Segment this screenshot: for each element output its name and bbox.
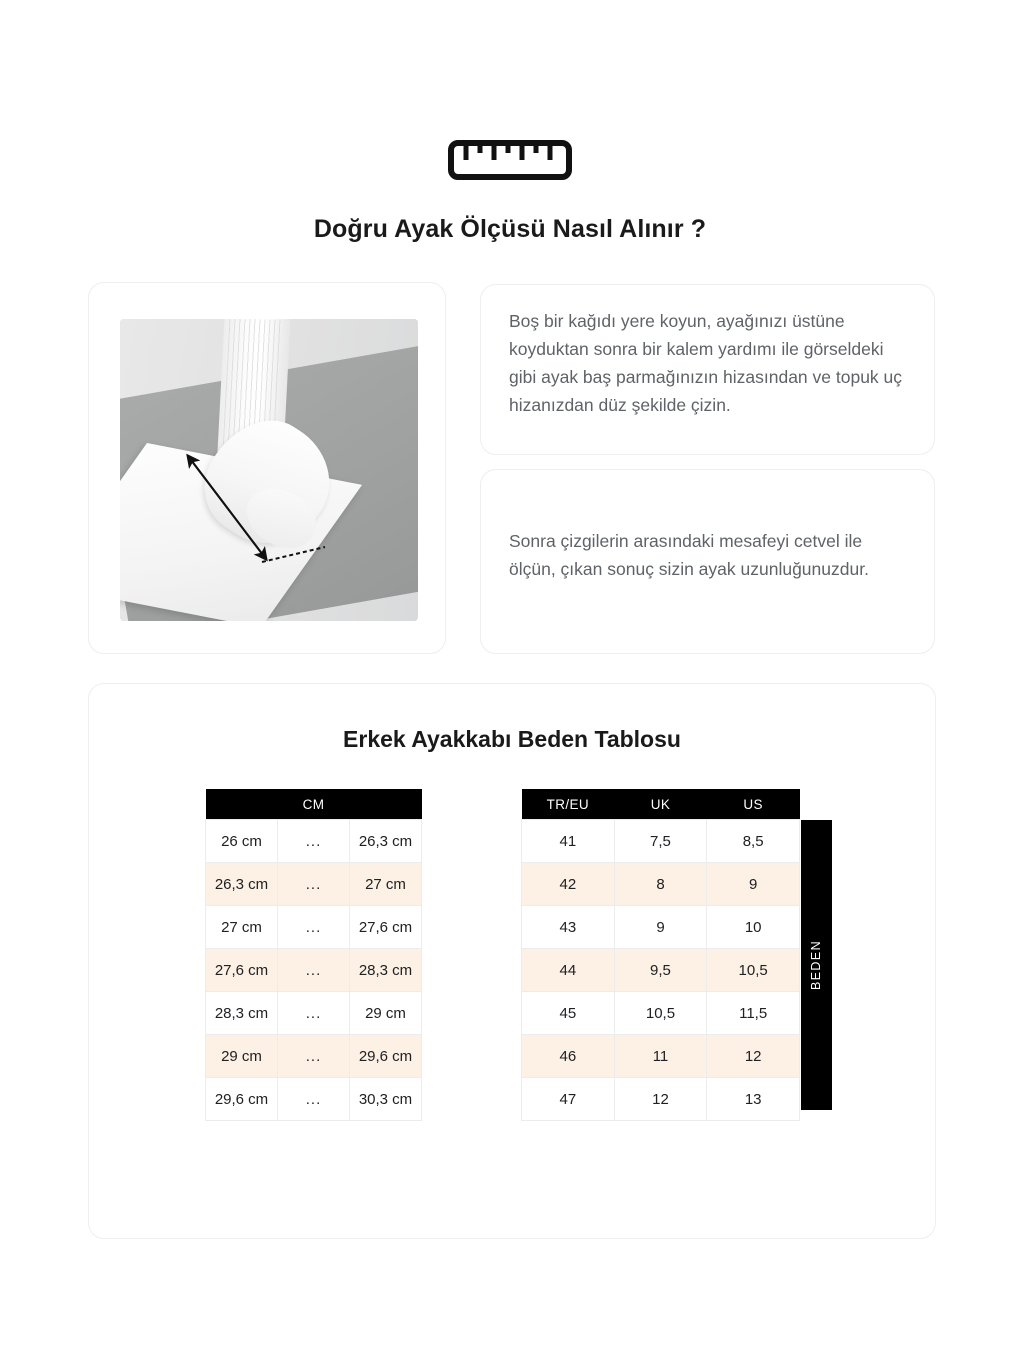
cm-to-value: 29,6 cm [350, 1035, 422, 1078]
cm-from-value: 29 cm [206, 1035, 278, 1078]
cm-from-value: 26 cm [206, 820, 278, 863]
cm-range-separator: ... [278, 992, 350, 1035]
size-table-row: 449,510,5 [522, 949, 800, 992]
size-table-row: 461112 [522, 1035, 800, 1078]
size-table-body: 417,58,5428943910449,510,54510,511,54611… [522, 820, 800, 1121]
cm-range-separator: ... [278, 820, 350, 863]
cm-from-value: 28,3 cm [206, 992, 278, 1035]
cm-to-value: 27,6 cm [350, 906, 422, 949]
cm-to-value: 28,3 cm [350, 949, 422, 992]
size-value-tr-eu: 44 [522, 949, 615, 992]
size-value-uk: 9,5 [614, 949, 707, 992]
size-value-tr-eu: 46 [522, 1035, 615, 1078]
size-table-row: 4289 [522, 863, 800, 906]
cm-from-value: 29,6 cm [206, 1078, 278, 1121]
size-value-us: 9 [707, 863, 800, 906]
instruction-card-2: Sonra çizgilerin arasındaki mesafeyi cet… [480, 469, 935, 654]
foot-photo-card [88, 282, 446, 654]
ruler-icon [448, 140, 572, 180]
cm-to-value: 26,3 cm [350, 820, 422, 863]
cm-table-row: 28,3 cm...29 cm [206, 992, 422, 1035]
cm-table-body: 26 cm...26,3 cm26,3 cm...27 cm27 cm...27… [206, 820, 422, 1121]
cm-table-row: 26 cm...26,3 cm [206, 820, 422, 863]
size-value-uk: 7,5 [614, 820, 707, 863]
cm-range-separator: ... [278, 863, 350, 906]
size-table-header-row: TR/EUUKUS [522, 789, 800, 820]
size-value-us: 12 [707, 1035, 800, 1078]
cm-table-row: 27,6 cm...28,3 cm [206, 949, 422, 992]
measurement-arrow-icon [120, 319, 418, 621]
cm-range-separator: ... [278, 949, 350, 992]
size-column-header-uk: UK [614, 789, 707, 820]
size-table-row: 43910 [522, 906, 800, 949]
beden-label: BEDEN [810, 940, 824, 990]
size-value-tr-eu: 47 [522, 1078, 615, 1121]
page-title: Doğru Ayak Ölçüsü Nasıl Alınır ? [0, 215, 1020, 244]
size-column-header-us: US [707, 789, 800, 820]
cm-table-row: 29,6 cm...30,3 cm [206, 1078, 422, 1121]
size-table-title: Erkek Ayakkabı Beden Tablosu [89, 726, 935, 753]
ruler-icon-container [0, 140, 1020, 180]
cm-table-row: 29 cm...29,6 cm [206, 1035, 422, 1078]
cm-from-value: 26,3 cm [206, 863, 278, 906]
size-value-tr-eu: 41 [522, 820, 615, 863]
size-column-header-tr-eu: TR/EU [522, 789, 615, 820]
size-value-us: 10,5 [707, 949, 800, 992]
size-table-row: 471213 [522, 1078, 800, 1121]
size-value-tr-eu: 42 [522, 863, 615, 906]
size-value-uk: 12 [614, 1078, 707, 1121]
size-value-us: 13 [707, 1078, 800, 1121]
size-value-uk: 9 [614, 906, 707, 949]
size-value-us: 10 [707, 906, 800, 949]
size-conversion-table: TR/EUUKUS 417,58,5428943910449,510,54510… [521, 789, 800, 1121]
size-value-tr-eu: 43 [522, 906, 615, 949]
size-value-uk: 11 [614, 1035, 707, 1078]
cm-column-header: CM [206, 789, 422, 820]
size-table-head: TR/EUUKUS [522, 789, 800, 820]
size-table-card: Erkek Ayakkabı Beden Tablosu CM 26 cm...… [88, 683, 936, 1239]
size-value-uk: 10,5 [614, 992, 707, 1035]
instruction-text-1: Boş bir kağıdı yere koyun, ayağınızı üst… [509, 307, 908, 419]
size-table-row: 4510,511,5 [522, 992, 800, 1035]
cm-table-head: CM [206, 789, 422, 820]
cm-table-header-row: CM [206, 789, 422, 820]
size-value-us: 11,5 [707, 992, 800, 1035]
size-value-us: 8,5 [707, 820, 800, 863]
size-value-uk: 8 [614, 863, 707, 906]
cm-range-separator: ... [278, 906, 350, 949]
cm-range-separator: ... [278, 1078, 350, 1121]
cm-table-row: 26,3 cm...27 cm [206, 863, 422, 906]
size-value-tr-eu: 45 [522, 992, 615, 1035]
instruction-text-2: Sonra çizgilerin arasındaki mesafeyi cet… [509, 527, 908, 583]
cm-to-value: 27 cm [350, 863, 422, 906]
cm-to-value: 29 cm [350, 992, 422, 1035]
beden-side-bar: BEDEN [801, 820, 832, 1110]
cm-range-separator: ... [278, 1035, 350, 1078]
cm-table-row: 27 cm...27,6 cm [206, 906, 422, 949]
cm-table: CM 26 cm...26,3 cm26,3 cm...27 cm27 cm..… [205, 789, 422, 1121]
instruction-card-1: Boş bir kağıdı yere koyun, ayağınızı üst… [480, 284, 935, 455]
cm-table-wrapper: CM 26 cm...26,3 cm26,3 cm...27 cm27 cm..… [205, 789, 422, 1121]
foot-measurement-photo [120, 319, 418, 621]
size-table-row: 417,58,5 [522, 820, 800, 863]
size-tables-row: CM 26 cm...26,3 cm26,3 cm...27 cm27 cm..… [89, 789, 935, 1129]
size-conversion-table-wrapper: TR/EUUKUS 417,58,5428943910449,510,54510… [521, 789, 800, 1121]
cm-from-value: 27 cm [206, 906, 278, 949]
cm-to-value: 30,3 cm [350, 1078, 422, 1121]
cm-from-value: 27,6 cm [206, 949, 278, 992]
